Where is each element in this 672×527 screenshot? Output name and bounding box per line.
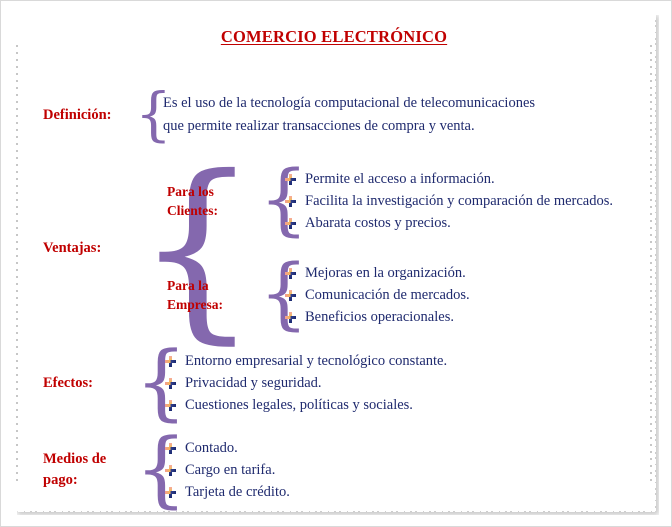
brace-empresa: { <box>259 259 277 331</box>
list-item: Abarata costos y precios. <box>285 212 613 234</box>
section-medios-de-pago: Medios de pago: { Contado. Cargo en tari… <box>43 434 623 506</box>
plus-bullet-icon <box>285 312 296 323</box>
list-item-label: Permite el acceso a información. <box>305 171 495 187</box>
list-item-label: Cuestiones legales, políticas y sociales… <box>185 397 413 413</box>
list-empresa: Mejoras en la organización. Comunicación… <box>285 262 470 328</box>
subsection-clientes: Para los Clientes: { Permite el acceso a… <box>167 165 613 237</box>
list-item: Contado. <box>165 437 290 459</box>
list-item-label: Privacidad y seguridad. <box>185 375 322 391</box>
list-item: Cargo en tarifa. <box>165 459 290 481</box>
plus-bullet-icon <box>165 487 176 498</box>
plus-bullet-icon <box>165 400 176 411</box>
plus-bullet-icon <box>285 196 296 207</box>
subsection-label-clientes: Para los Clientes: <box>167 182 259 220</box>
list-item-label: Mejoras en la organización. <box>305 265 466 281</box>
list-item-label: Beneficios operacionales. <box>305 309 454 325</box>
subsection-label-empresa: Para la Empresa: <box>167 276 259 314</box>
subsection-empresa: Para la Empresa: { Mejoras en la organiz… <box>167 259 613 331</box>
list-item-label: Cargo en tarifa. <box>185 462 275 478</box>
definicion-text: Es el uso de la tecnología computacional… <box>163 92 535 139</box>
brace-clientes: { <box>259 165 277 237</box>
brace-medios-de-pago: { <box>135 432 157 507</box>
ventajas-subgroups: Para los Clientes: { Permite el acceso a… <box>167 165 613 331</box>
brace-efectos: { <box>135 345 157 420</box>
list-item: Mejoras en la organización. <box>285 262 470 284</box>
list-item-label: Abarata costos y precios. <box>305 215 451 231</box>
plus-bullet-icon <box>285 174 296 185</box>
list-item-label: Tarjeta de crédito. <box>185 484 290 500</box>
list-item-label: Facilita la investigación y comparación … <box>305 193 613 209</box>
section-label-medios-de-pago: Medios de pago: <box>43 449 131 490</box>
list-item-label: Contado. <box>185 440 238 456</box>
list-item: Privacidad y seguridad. <box>165 372 447 394</box>
section-label-efectos: Efectos: <box>43 373 131 394</box>
image-frame: COMERCIO ELECTRÓNICO Definición: { Es el… <box>0 0 672 527</box>
list-clientes: Permite el acceso a información. Facilit… <box>285 168 613 234</box>
plus-bullet-icon <box>285 268 296 279</box>
list-item-label: Comunicación de mercados. <box>305 287 470 303</box>
plus-bullet-icon <box>165 378 176 389</box>
paper-sheet: COMERCIO ELECTRÓNICO Definición: { Es el… <box>13 11 655 511</box>
plus-bullet-icon <box>285 290 296 301</box>
section-label-ventajas: Ventajas: <box>43 238 131 259</box>
list-item: Tarjeta de crédito. <box>165 481 290 503</box>
plus-bullet-icon <box>165 465 176 476</box>
page-title: COMERCIO ELECTRÓNICO <box>13 27 655 47</box>
section-definicion: Definición: { Es el uso de la tecnología… <box>43 89 623 141</box>
list-item-label: Entorno empresarial y tecnológico consta… <box>185 353 447 369</box>
brace-ventajas: { <box>135 158 157 337</box>
list-medios-de-pago: Contado. Cargo en tarifa. Tarjeta de cré… <box>165 437 290 503</box>
list-efectos: Entorno empresarial y tecnológico consta… <box>165 350 447 416</box>
plus-bullet-icon <box>285 218 296 229</box>
list-item: Entorno empresarial y tecnológico consta… <box>165 350 447 372</box>
list-item: Beneficios operacionales. <box>285 306 470 328</box>
section-label-definicion: Definición: <box>43 105 131 126</box>
section-ventajas: Ventajas: { Para los Clientes: { Permite… <box>43 163 643 333</box>
list-item: Permite el acceso a información. <box>285 168 613 190</box>
list-item: Facilita la investigación y comparación … <box>285 190 613 212</box>
slide-content: COMERCIO ELECTRÓNICO Definición: { Es el… <box>13 11 655 511</box>
plus-bullet-icon <box>165 356 176 367</box>
section-efectos: Efectos: { Entorno empresarial y tecnoló… <box>43 347 623 419</box>
list-item: Comunicación de mercados. <box>285 284 470 306</box>
list-item: Cuestiones legales, políticas y sociales… <box>165 394 447 416</box>
plus-bullet-icon <box>165 443 176 454</box>
